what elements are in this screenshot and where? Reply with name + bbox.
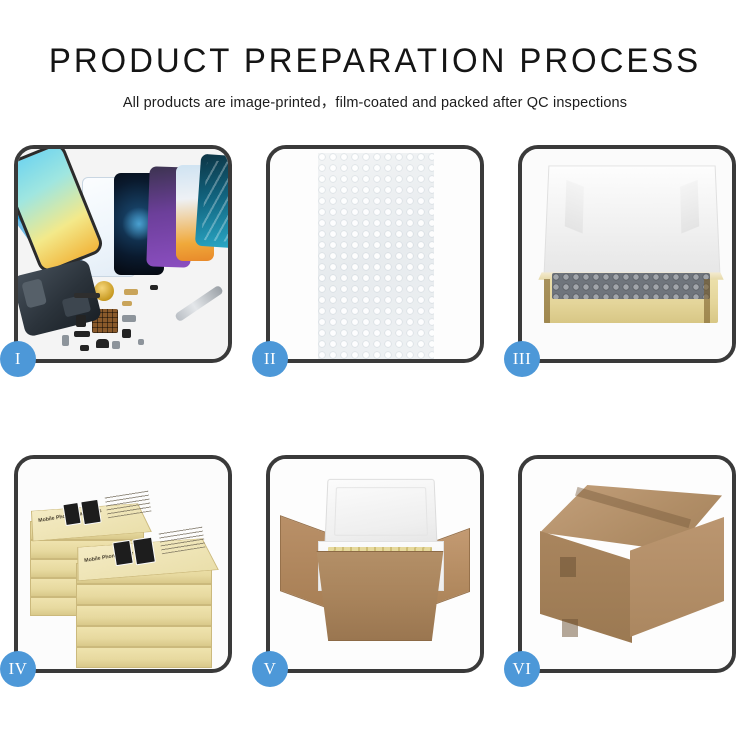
step-1-image	[18, 149, 228, 359]
step-5-image	[270, 459, 480, 669]
process-step-panel-2: II	[266, 145, 484, 363]
small-part	[122, 301, 132, 306]
carton-left-face	[540, 531, 632, 643]
step-badge-4: IV	[0, 651, 36, 687]
page-subtitle: All products are image-printed，film-coat…	[0, 78, 750, 112]
bubble-wrap-bag	[318, 153, 434, 359]
small-part	[150, 285, 158, 290]
process-step-panel-3: III	[518, 145, 736, 363]
carton-tape-tab	[562, 619, 578, 637]
small-part	[122, 329, 131, 338]
header: PRODUCT PREPARATION PROCESS All products…	[0, 0, 750, 112]
box-corner	[544, 279, 550, 323]
small-part	[96, 339, 109, 348]
box-artwork-text-lines	[105, 490, 152, 519]
process-step-panel-5: V	[266, 455, 484, 673]
small-part	[74, 331, 90, 337]
small-part	[76, 315, 86, 327]
bubble-wrapped-contents	[552, 273, 710, 299]
step-badge-5: V	[252, 651, 288, 687]
box-artwork-screen	[62, 502, 81, 526]
lid-flap-right	[680, 180, 699, 234]
screwdriver-tool	[174, 285, 224, 323]
page-title: PRODUCT PREPARATION PROCESS	[11, 0, 739, 78]
step-6-image	[522, 459, 732, 669]
white-box-lid	[543, 165, 720, 277]
teal-phone-screen	[195, 154, 228, 249]
small-part	[112, 341, 120, 349]
box-artwork-screen	[132, 537, 156, 566]
box-artwork-screen	[80, 499, 102, 526]
process-step-panel-6: VI	[518, 455, 736, 673]
stacked-box	[76, 647, 212, 668]
step-badge-3: III	[504, 341, 540, 377]
box-artwork-screen	[112, 540, 134, 567]
small-part	[80, 345, 89, 351]
small-part	[122, 315, 136, 322]
step-badge-6: VI	[504, 651, 540, 687]
process-step-panel-4: Mobile Phone Spare Parts Mobile Phone Sp…	[14, 455, 232, 673]
lid-flap-left	[565, 180, 584, 234]
stacked-box	[76, 584, 212, 605]
step-3-image	[522, 149, 732, 359]
step-2-image	[270, 149, 480, 359]
process-step-panel-1: I	[14, 145, 232, 363]
small-part	[62, 335, 69, 346]
carton-tape-tab	[560, 557, 576, 577]
stacked-box	[76, 626, 212, 647]
small-part	[74, 293, 100, 298]
shipping-carton	[308, 551, 452, 641]
small-part	[138, 339, 144, 345]
foam-box-lid	[324, 479, 437, 545]
box-corner	[704, 279, 710, 323]
step-badge-1: I	[0, 341, 36, 377]
stacked-box	[76, 605, 212, 626]
step-badge-2: II	[252, 341, 288, 377]
step-4-image: Mobile Phone Spare Parts Mobile Phone Sp…	[18, 459, 228, 669]
process-step-grid: I II	[14, 145, 736, 673]
phone-back-housing	[18, 258, 102, 337]
product-preparation-infographic: PRODUCT PREPARATION PROCESS All products…	[0, 0, 750, 750]
small-part	[124, 289, 138, 295]
